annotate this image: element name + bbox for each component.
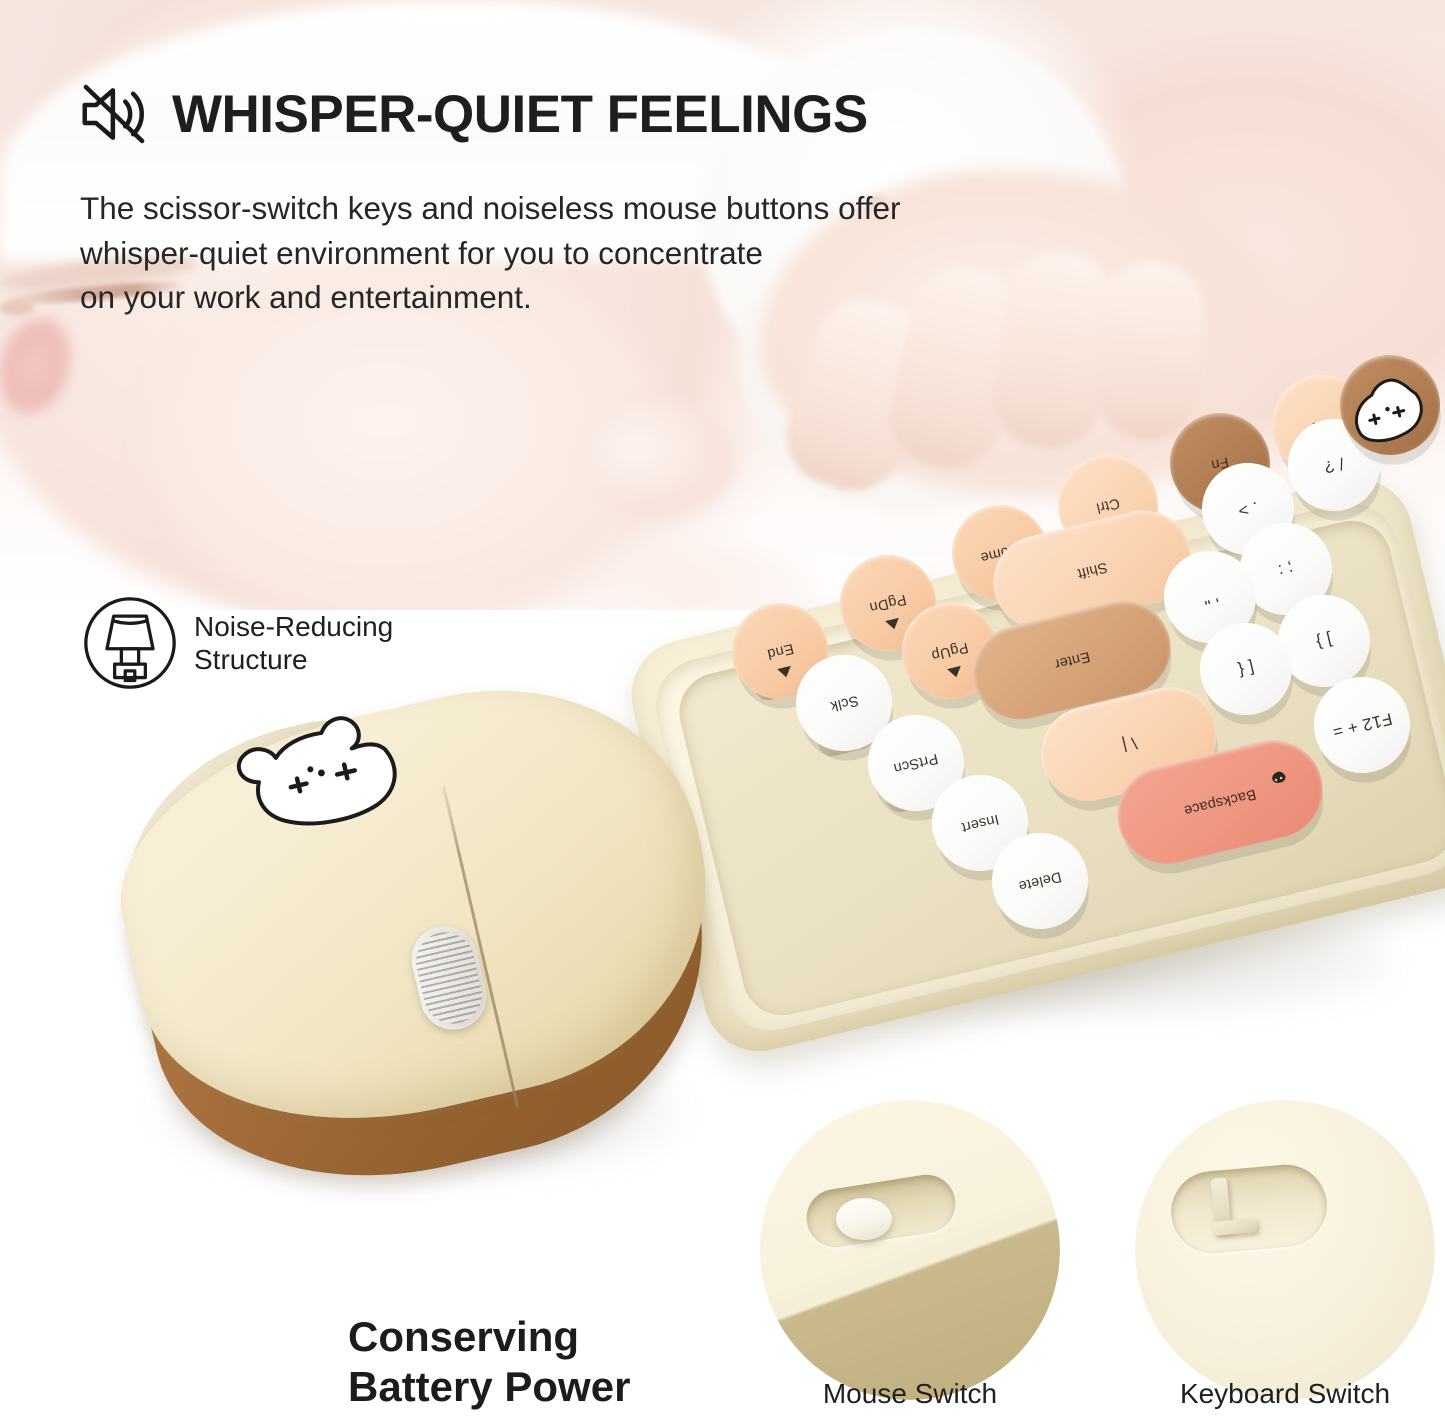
keycap-label: F12 + = [1330, 709, 1393, 741]
noise-reducing-label: Noise-Reducing Structure [194, 610, 393, 676]
keycap-label: ] } [1314, 630, 1334, 651]
cat-face-icon [1268, 763, 1288, 787]
mouse-product-photo [120, 690, 730, 1200]
keycap-label: Ctrl [1095, 494, 1122, 515]
keyboard-switch-caption: Keyboard Switch [1135, 1378, 1435, 1410]
bottom-title-line-1: Conserving [348, 1312, 778, 1362]
product-marketing-image: WHISPER-QUIET FEELINGS The scissor-switc… [0, 0, 1445, 1422]
badge-line-1: Noise-Reducing [194, 611, 393, 642]
subcopy-line-1: The scissor-switch keys and noiseless mo… [80, 186, 1160, 231]
subcopy: The scissor-switch keys and noiseless mo… [80, 186, 1160, 320]
keycap-arrow-icon [947, 666, 963, 679]
keycap-label: Sclk [828, 692, 860, 714]
keycap-label: / ? [1322, 454, 1345, 476]
keycap-label: PgDn [868, 591, 908, 615]
subcopy-line-3: on your work and entertainment. [80, 275, 1160, 320]
keycap-label: PrtScn [892, 750, 940, 776]
keycap-label: End [765, 640, 795, 662]
mouse-switch-caption: Mouse Switch [760, 1378, 1060, 1410]
keycap-label: [ { [1236, 658, 1256, 679]
keycap-label: ; : [1277, 559, 1296, 580]
keyboard-switch-photo [1135, 1100, 1435, 1400]
bottom-title: Conserving Battery Power [348, 1312, 778, 1411]
keyboard-product-photo: EndPgDnHomeCtrlFnAltPgUpSclkPrtScnInsert… [640, 355, 1445, 1065]
keycap-label: Delete [1017, 868, 1063, 894]
keycap-label: ' " [1201, 587, 1220, 608]
headline-row: WHISPER-QUIET FEELINGS [78, 78, 868, 150]
baby-nostril [0, 300, 34, 316]
page-title: WHISPER-QUIET FEELINGS [172, 88, 868, 141]
keycap-label: \ | [1120, 734, 1139, 755]
mute-speaker-icon [78, 78, 150, 150]
badge-line-2: Structure [194, 644, 308, 675]
keycap-label: Enter [1053, 648, 1092, 672]
subcopy-line-2: whisper-quiet environment for you to con… [80, 231, 1160, 276]
bottom-title-line-2: Battery Power [348, 1362, 778, 1412]
mouse-switch-knob [836, 1198, 892, 1240]
keycap-label: . > [1236, 498, 1260, 520]
mouse-switch-surface [760, 1100, 1060, 1400]
keycap-label: Backspace [1182, 786, 1257, 819]
keycap-label: Shift [1075, 559, 1108, 582]
keyboard-switch-surface [1135, 1100, 1435, 1400]
noise-reducing-badge: Noise-Reducing Structure [82, 595, 393, 691]
keycap-switch-icon [82, 595, 178, 691]
keycap-label: Insert [960, 811, 1001, 835]
mouse-switch-photo [760, 1100, 1060, 1400]
